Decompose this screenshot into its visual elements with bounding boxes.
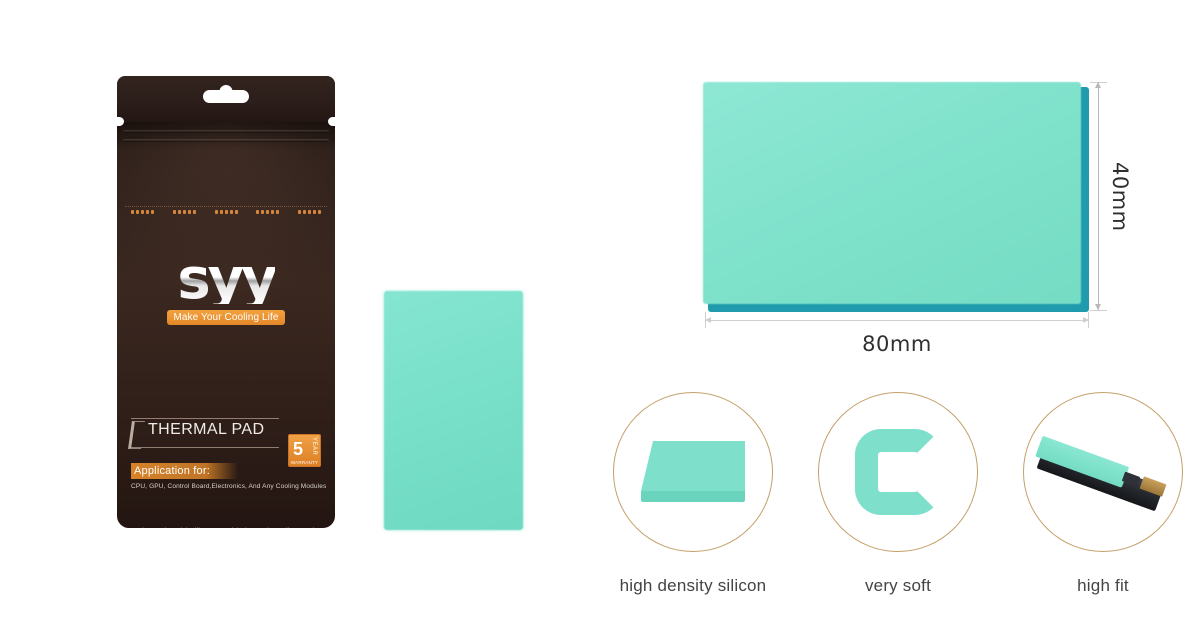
bent-c-pad-icon: [855, 429, 941, 515]
feature-circle-2: [818, 392, 978, 552]
feature-label-1: high density silicon: [620, 576, 767, 596]
warranty-number: 5: [293, 438, 303, 460]
dimension-extension-bottom: [1090, 310, 1107, 311]
warranty-badge: 5 YEAR WARRANTY: [288, 434, 321, 467]
ziplock-seal-line-bottom: [123, 139, 329, 142]
footer-categories-text: Thermal Pad / Silicone Pad / Thermal Coo…: [137, 526, 314, 528]
tear-notch-right-icon: [328, 117, 335, 126]
perforation-dash-group: [131, 210, 154, 214]
m2-ssd-with-pad-icon: [1037, 425, 1169, 519]
euro-hang-hole-icon: [203, 90, 249, 103]
feature-label-2: very soft: [865, 576, 931, 596]
pouch-body-panel: syy ® Make Your Cooling Life THERMAL PAD…: [117, 122, 335, 528]
product-title: THERMAL PAD: [148, 421, 264, 439]
dimension-label-width: 80mm: [705, 332, 1089, 356]
dimension-arrow-vertical: [1098, 82, 1099, 310]
application-list: CPU, GPU, Control Board,Electronics, And…: [131, 482, 327, 491]
dimension-label-height: 40mm: [1108, 162, 1132, 232]
perforation-dash-group: [298, 210, 321, 214]
feature-circle-1: [613, 392, 773, 552]
dimension-arrow-horizontal: [705, 320, 1089, 321]
pouch-top-shading: [117, 122, 335, 150]
perforation-dash-group: [215, 210, 238, 214]
feature-label-3: high fit: [1077, 576, 1129, 596]
brand-tagline: Make Your Cooling Life: [167, 310, 285, 325]
feature-item-high-density-silicon: high density silicon: [608, 392, 778, 602]
product-package-pouch: syy ® Make Your Cooling Life THERMAL PAD…: [117, 76, 335, 528]
thermal-pad-slab-icon: [641, 441, 745, 503]
feature-item-high-fit: high fit: [1018, 392, 1188, 602]
product-image-canvas: syy ® Make Your Cooling Life THERMAL PAD…: [0, 0, 1200, 628]
perforation-dash-line: [125, 206, 327, 216]
feature-circle-3: [1023, 392, 1183, 552]
ziplock-seal-line-top: [123, 130, 329, 133]
warranty-year-label: YEAR: [311, 437, 317, 455]
footer-categories-row: Thermal Pad / Silicone Pad / Thermal Coo…: [117, 526, 335, 528]
thermal-pad-dimensioned: [703, 82, 1089, 312]
feature-item-very-soft: very soft: [813, 392, 983, 602]
brand-logo: syy: [177, 256, 274, 304]
brand-block: syy ® Make Your Cooling Life: [117, 256, 335, 325]
pouch-header-panel: [117, 76, 335, 122]
perforation-dash-group: [173, 210, 196, 214]
application-heading: Application for:: [131, 463, 238, 479]
pad-top-surface: [703, 82, 1081, 304]
product-title-banner: THERMAL PAD: [131, 418, 279, 448]
perforation-dash-group: [256, 210, 279, 214]
warranty-sub-label: WARRANTY: [289, 460, 320, 465]
feature-highlights-row: high density silicon very soft high fit: [608, 392, 1188, 602]
thermal-pad-swatch: [384, 291, 523, 530]
